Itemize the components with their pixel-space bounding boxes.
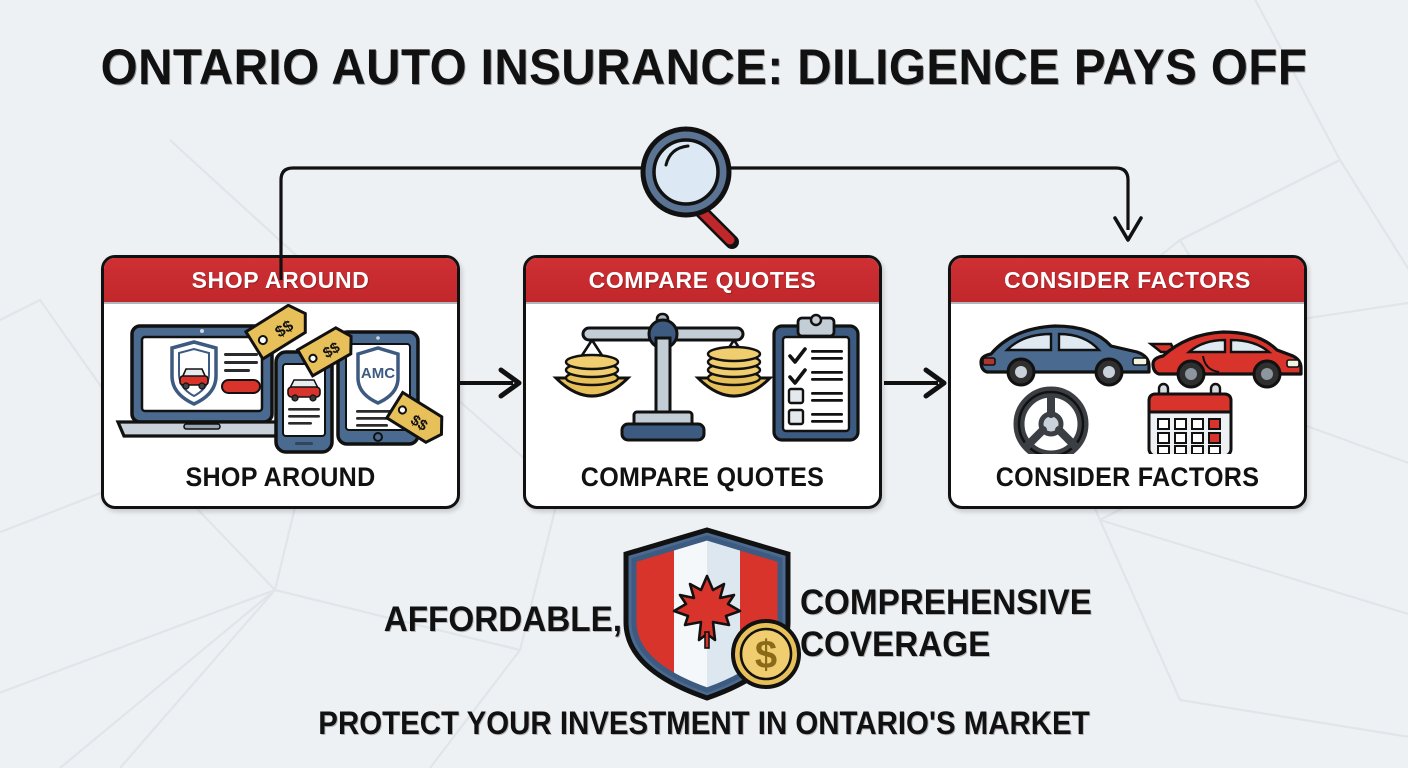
calendar-icon <box>1149 384 1231 454</box>
balance-scale-icon <box>556 314 770 440</box>
tagline-affordable: AFFORDABLE, <box>366 600 623 640</box>
tagline-comprehensive-coverage: COMPREHENSIVE COVERAGE <box>800 582 1199 666</box>
card-art-compare-quotes <box>526 304 879 454</box>
dollar-coin-icon: $ <box>733 621 799 687</box>
page-title: ONTARIO AUTO INSURANCE: DILIGENCE PAYS O… <box>35 38 1373 96</box>
card-caption-consider-factors: CONSIDER FACTORS <box>963 462 1291 493</box>
card-shop-around[interactable]: SHOP AROUND <box>101 255 460 509</box>
card-art-consider-factors <box>951 304 1304 454</box>
canadian-flag-shield-icon: $ <box>614 524 814 708</box>
arrow-compare-to-consider <box>880 362 960 404</box>
card-caption-shop-around: SHOP AROUND <box>116 462 444 493</box>
tagline-line-2: COVERAGE <box>800 624 1199 666</box>
card-compare-quotes[interactable]: COMPARE QUOTES <box>523 255 882 509</box>
svg-text:AMC: AMC <box>361 365 395 382</box>
card-caption-compare-quotes: COMPARE QUOTES <box>538 462 866 493</box>
sports-car-icon <box>1151 332 1301 387</box>
sedan-car-icon <box>981 326 1149 385</box>
footer-text: PROTECT YOUR INVESTMENT IN ONTARIO'S MAR… <box>56 705 1351 742</box>
arrow-shop-to-compare <box>455 362 535 404</box>
svg-text:$: $ <box>755 633 777 677</box>
card-art-shop-around: AMC $$ $$ <box>104 304 457 454</box>
magnifying-glass-icon <box>636 120 796 250</box>
coin-stack-icon <box>566 355 618 385</box>
coin-stack-icon <box>708 347 760 385</box>
steering-wheel-icon <box>1019 392 1083 454</box>
clipboard-checklist-icon <box>774 315 858 440</box>
tagline-line-1: COMPREHENSIVE <box>800 582 1199 624</box>
card-consider-factors[interactable]: CONSIDER FACTORS <box>948 255 1307 509</box>
